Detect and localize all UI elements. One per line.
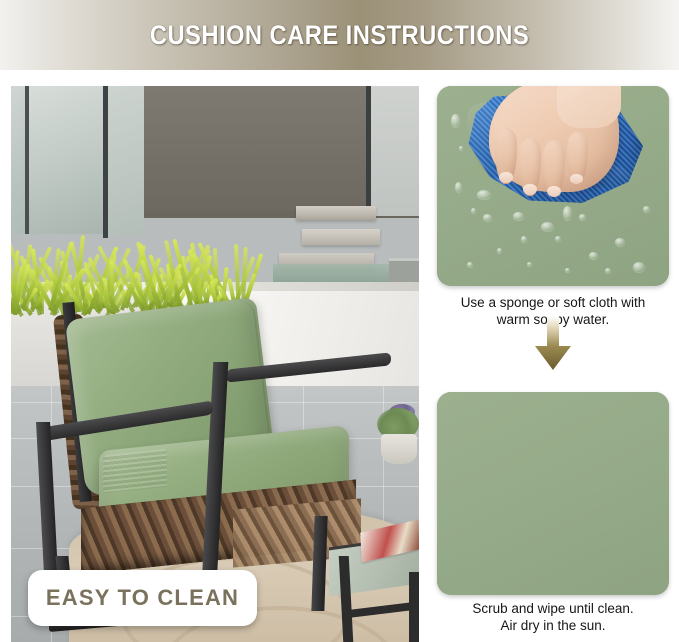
step-dry-image [437, 392, 669, 595]
easy-to-clean-label: EASY TO CLEAN [46, 585, 239, 611]
down-arrow-icon [533, 316, 573, 370]
chair-leg-back-right [311, 516, 327, 611]
water-droplet [455, 182, 462, 192]
water-droplet [527, 262, 532, 266]
water-droplet [477, 190, 491, 199]
fingernail [499, 172, 513, 183]
fingernail [547, 186, 561, 197]
water-droplet [555, 236, 561, 241]
water-droplet [589, 252, 598, 259]
header-banner: CUSHION CARE INSTRUCTIONS [0, 0, 679, 70]
water-droplet [565, 268, 570, 272]
water-droplet [467, 262, 473, 267]
water-droplet [471, 208, 476, 213]
water-droplet [513, 212, 524, 220]
step-wipe-image [437, 86, 669, 286]
step-dry-caption-line1: Scrub and wipe until clean. [437, 600, 669, 617]
water-droplet [563, 206, 572, 220]
fingernail [570, 174, 583, 184]
water-droplet [521, 236, 527, 242]
easy-to-clean-badge: EASY TO CLEAN [28, 570, 257, 626]
water-droplet [483, 214, 492, 221]
water-droplet [643, 206, 650, 212]
water-droplet [459, 146, 463, 150]
water-droplet [615, 238, 625, 246]
step-dry-caption-line2: Air dry in the sun. [437, 617, 669, 634]
water-droplet [605, 268, 611, 273]
water-droplet [579, 214, 586, 220]
step-dry-caption: Scrub and wipe until clean. Air dry in t… [437, 600, 669, 634]
down-arrow [437, 312, 669, 374]
step-wipe-caption-line1: Use a sponge or soft cloth with [437, 294, 669, 311]
cushion-surface-clean [437, 392, 669, 595]
page-title: CUSHION CARE INSTRUCTIONS [150, 20, 529, 51]
hero-product-photo [11, 86, 419, 642]
water-droplet [451, 114, 460, 127]
water-droplet [541, 222, 554, 231]
water-droplet [633, 262, 645, 272]
care-steps-column: Use a sponge or soft cloth with warm soa… [437, 86, 669, 642]
chair-seat-pleat [103, 449, 167, 494]
wrist [557, 86, 621, 128]
fingernail [523, 184, 537, 195]
water-droplet [497, 248, 502, 253]
